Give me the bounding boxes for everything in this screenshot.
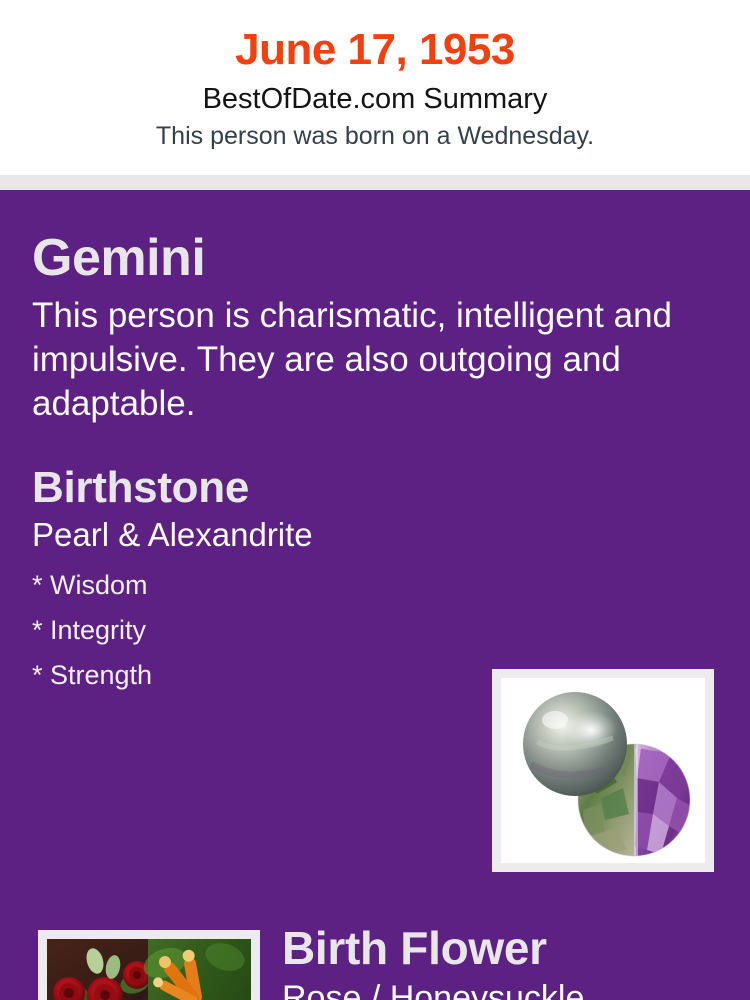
- page-title-date: June 17, 1953: [0, 22, 750, 78]
- birth-flower-value: Rose / Honeysuckle: [282, 977, 742, 1000]
- birth-flower-section: Birth Flower Rose / Honeysuckle * Romanc…: [282, 920, 742, 1000]
- roses-and-honeysuckle-icon: [47, 939, 251, 1000]
- list-item: * Integrity: [32, 608, 750, 653]
- pearl-and-alexandrite-icon: [501, 678, 705, 863]
- zodiac-sign-name: Gemini: [32, 228, 720, 288]
- birth-flower-image: [47, 939, 251, 1000]
- birthstone-text-block: Birthstone Pearl & Alexandrite * Wisdom …: [0, 456, 750, 698]
- list-item: * Wisdom: [32, 563, 750, 608]
- birthstone-image-frame: [492, 669, 714, 872]
- birthstone-image: [501, 678, 705, 863]
- summary-panel: Gemini This person is charismatic, intel…: [0, 190, 750, 1000]
- summary-header: June 17, 1953 BestOfDate.com Summary Thi…: [0, 0, 750, 175]
- birth-flower-image-frame: [38, 930, 260, 1000]
- site-brand-subtitle: BestOfDate.com Summary: [0, 80, 750, 118]
- zodiac-section: Gemini This person is charismatic, intel…: [0, 190, 750, 426]
- zodiac-description: This person is charismatic, intelligent …: [32, 294, 702, 426]
- birthstone-section: Birthstone Pearl & Alexandrite * Wisdom …: [0, 456, 750, 686]
- birth-weekday-note: This person was born on a Wednesday.: [0, 120, 750, 153]
- birthstone-value: Pearl & Alexandrite: [32, 515, 750, 555]
- birthstone-title: Birthstone: [32, 462, 750, 514]
- birth-flower-title: Birth Flower: [282, 920, 742, 976]
- header-divider: [0, 175, 750, 190]
